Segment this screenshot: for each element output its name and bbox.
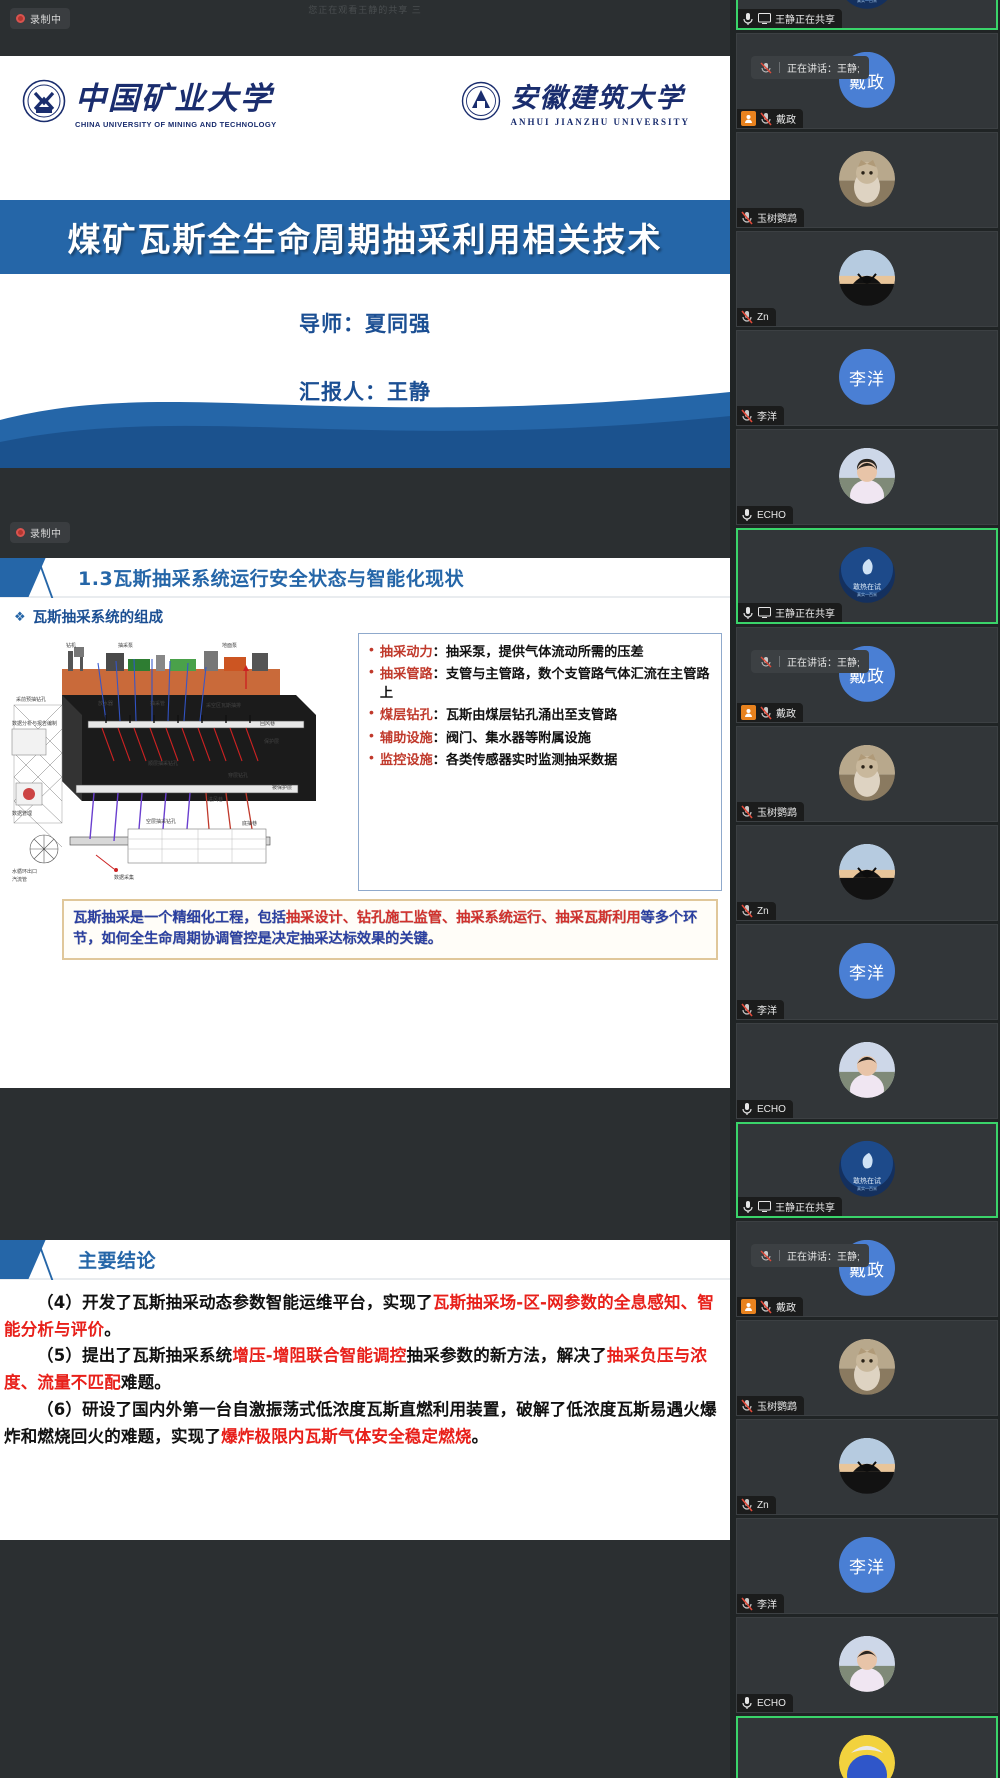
bullet-key: 监控设施 (380, 752, 433, 767)
avatar (839, 1042, 895, 1098)
participant-tile[interactable]: 李洋 李洋 (736, 924, 998, 1020)
avatar-person-image (839, 1636, 895, 1692)
avatar-night-image: 敢热在试 真实一百米 (839, 1141, 895, 1197)
avatar: 李洋 (839, 943, 895, 999)
microphone-muted-icon (741, 904, 753, 918)
participant-tile[interactable]: ECHO (736, 1023, 998, 1119)
svg-text:真实一百米: 真实一百米 (857, 1185, 877, 1191)
slide-main-conclusions: 主要结论 （4）开发了瓦斯抽采动态参数智能运维平台，实现了瓦斯抽采场-区-网参数… (0, 1240, 730, 1540)
screen-share-icon (758, 607, 771, 618)
participant-tile[interactable]: 正在讲话：王静; 戴政 戴政 (736, 1221, 998, 1317)
avatar-dusk-image (839, 250, 895, 306)
avatar-dusk-image (839, 1438, 895, 1494)
slide2-bullet-box: • 抽采动力：抽采泵，提供气体流动所需的压差 • 抽采管路：支管与主管路，数个支… (358, 633, 722, 891)
microphone-on-icon (741, 508, 753, 522)
avatar (839, 250, 895, 306)
microphone-on-icon (742, 12, 754, 26)
svg-text:水循环出口: 水循环出口 (12, 868, 37, 875)
avatar (839, 1339, 895, 1395)
microphone-muted-icon (760, 1300, 772, 1314)
participant-name: 李洋 (757, 1002, 777, 1017)
participant-tile[interactable]: Zn (736, 231, 998, 327)
svg-text:穿层钻孔: 穿层钻孔 (228, 772, 248, 779)
speaking-toast: 正在讲话：王静; (751, 1244, 869, 1267)
speaking-toast-text: 正在讲话：王静; (787, 654, 860, 669)
microphone-muted-icon (760, 1250, 772, 1262)
avatar (839, 844, 895, 900)
participant-name: 王静正在共享 (775, 1199, 835, 1214)
bullet-dot-icon: • (369, 664, 374, 702)
bullet-text: ：阀门、集水器等附属设施 (433, 730, 591, 745)
svg-text:数据分析与报告编制: 数据分析与报告编制 (12, 720, 57, 727)
microphone-muted-icon (741, 1399, 753, 1413)
record-dot-icon (16, 528, 25, 537)
participant-name: ECHO (757, 510, 786, 521)
avatar-person-image (839, 448, 895, 504)
microphone-on-icon (741, 1102, 753, 1116)
slide3-section-title: 主要结论 (78, 1246, 156, 1273)
slide2-subheading-row: ❖ 瓦斯抽采系统的组成 (0, 598, 730, 631)
bullet-key: 抽采动力 (380, 644, 433, 659)
avatar (839, 1438, 895, 1494)
participant-tile[interactable]: Zn (736, 825, 998, 921)
participant-name: ECHO (757, 1698, 786, 1709)
slide-logo-row: 中国矿业大学 CHINA UNIVERSITY OF MINING AND TE… (0, 56, 730, 146)
sidebar-scroll-content: 敢热在试 真实一百米 王静正在共享 (734, 0, 996, 1778)
microphone-muted-icon (741, 805, 753, 819)
participant-badge: 玉树鹦鹉 (737, 1396, 804, 1415)
microphone-muted-icon (741, 1597, 753, 1611)
slide-title: 中国矿业大学 CHINA UNIVERSITY OF MINING AND TE… (0, 56, 730, 468)
microphone-muted-icon (760, 62, 772, 74)
avatar-yellow-image (839, 1735, 895, 1778)
list-item: • 监控设施：各类传感器实时监测抽采数据 (369, 750, 713, 769)
cumt-name-en: CHINA UNIVERSITY OF MINING AND TECHNOLOG… (75, 120, 277, 129)
participant-name: 玉树鹦鹉 (757, 1398, 797, 1413)
participant-tile[interactable]: 李洋 李洋 (736, 1518, 998, 1614)
avatar: 敢热在试 真实一百米 (839, 547, 895, 603)
participant-name: Zn (757, 906, 769, 917)
conclusion-paragraph-6: （6）研设了国内外第一台自激振荡式低浓度瓦斯直燃利用装置，破解了低浓度瓦斯易遇火… (4, 1397, 724, 1450)
participant-name: 戴政 (776, 705, 796, 720)
slide1-body: 导师：夏同强 汇报人：王静 (0, 274, 730, 468)
svg-text:采空区瓦斯抽排: 采空区瓦斯抽排 (206, 702, 241, 709)
conclusion-paragraph-5: （5）提出了瓦斯抽采系统增压-增阻联合智能调控抽采参数的新方法，解决了抽采负压与… (4, 1343, 724, 1396)
avatar-person-image (839, 1042, 895, 1098)
shared-screen-stage: 您正在观看王静的共享 三 录制中 中国矿业大学 CHINA UNIV (0, 0, 730, 1778)
bullet-key: 辅助设施 (380, 730, 433, 745)
note-part-1: 瓦斯抽采是一个精细化工程，包括 (73, 910, 286, 926)
share-hint-text: 您正在观看王静的共享 三 (0, 3, 730, 16)
avatar (839, 448, 895, 504)
slide3-header: 主要结论 (0, 1240, 730, 1280)
logo-cumt: 中国矿业大学 CHINA UNIVERSITY OF MINING AND TE… (22, 73, 277, 129)
list-item: • 抽采动力：抽采泵，提供气体流动所需的压差 (369, 642, 713, 661)
avatar-initials: 李洋 (839, 349, 895, 405)
participant-badge: 戴政 (737, 109, 803, 128)
avatar (839, 151, 895, 207)
bullet-dot-icon: • (369, 642, 374, 661)
participant-tile[interactable]: 敢热在试 真实一百米 王静正在共享 (736, 1122, 998, 1218)
avatar: 敢热在试 真实一百米 (839, 0, 895, 9)
host-icon (741, 705, 756, 720)
recording-label: 录制中 (30, 11, 62, 26)
speaking-toast-text: 正在讲话：王静; (787, 60, 860, 75)
participant-tile[interactable]: 敢热在试 真实一百米 王静正在共享 (736, 528, 998, 624)
microphone-muted-icon (760, 112, 772, 126)
avatar (839, 1636, 895, 1692)
bullet-text: ：抽采泵，提供气体流动所需的压差 (433, 644, 644, 659)
bullet-dot-icon: • (369, 728, 374, 747)
participant-badge: 玉树鹦鹉 (737, 208, 804, 227)
participant-name: ECHO (757, 1104, 786, 1115)
slide1-wave-decoration (0, 358, 730, 468)
svg-text:顺层抽采钻孔: 顺层抽采钻孔 (148, 760, 178, 767)
conclusion-5-c: 难题。 (121, 1373, 171, 1392)
microphone-muted-icon (741, 1498, 753, 1512)
list-item: • 煤层钻孔：瓦斯由煤层钻孔涌出至支管路 (369, 705, 713, 724)
conclusion-6-highlight: 爆炸极限内瓦斯气体安全稳定燃烧 (221, 1427, 472, 1446)
participant-name: 李洋 (757, 1596, 777, 1611)
participant-badge: 王静正在共享 (738, 9, 842, 28)
speaking-toast: 正在讲话：王静; (751, 56, 869, 79)
microphone-muted-icon (741, 409, 753, 423)
avatar-cat-image (839, 151, 895, 207)
svg-text:放水器: 放水器 (98, 700, 113, 707)
svg-text:采前预抽钻孔: 采前预抽钻孔 (16, 696, 46, 703)
slide1-spacer (0, 146, 730, 200)
screen-share-icon (758, 13, 771, 24)
participant-badge: ECHO (737, 506, 793, 524)
microphone-muted-icon (741, 211, 753, 225)
svg-text:真实一百米: 真实一百米 (857, 0, 877, 3)
participant-name: Zn (757, 312, 769, 323)
cumt-crest-icon (22, 79, 66, 123)
bullet-key: 抽采管路 (380, 666, 433, 681)
avatar: 李洋 (839, 349, 895, 405)
participant-tile[interactable]: ECHO (736, 429, 998, 525)
participant-sidebar[interactable]: 敢热在试 真实一百米 王静正在共享 (730, 0, 1000, 1778)
svg-text:汽流管: 汽流管 (12, 876, 27, 883)
participant-badge: Zn (737, 902, 776, 920)
svg-text:进风巷: 进风巷 (208, 796, 223, 803)
conclusion-5-highlight-1: 增压-增阻联合智能调控 (232, 1346, 406, 1365)
screen-share-icon (758, 1201, 771, 1212)
avatar-initials: 李洋 (839, 1537, 895, 1593)
participant-tile[interactable]: 玉树鹦鹉 (736, 132, 998, 228)
speaking-toast-text: 正在讲话：王静; (787, 1248, 860, 1263)
microphone-muted-icon (760, 706, 772, 720)
participant-tile[interactable] (736, 1716, 998, 1778)
logo-ahjzu: 安徽建筑大学 ANHUI JIANZHU UNIVERSITY (461, 76, 690, 127)
participant-tile[interactable]: ECHO (736, 1617, 998, 1713)
ahjzu-crest-icon (461, 81, 501, 121)
slide1-adviser: 导师：夏同强 (0, 308, 730, 338)
record-dot-icon (16, 14, 25, 23)
host-icon (741, 1299, 756, 1314)
recording-label: 录制中 (30, 525, 62, 540)
slide1-title-bar: 煤矿瓦斯全生命周期抽采利用相关技术 (0, 200, 730, 274)
recording-indicator-top: 录制中 (10, 8, 70, 29)
participant-badge: 李洋 (737, 406, 784, 425)
svg-text:数据管理: 数据管理 (12, 810, 32, 817)
participant-name: 王静正在共享 (775, 11, 835, 26)
toast-divider (779, 1250, 780, 1261)
conclusion-4-b: 。 (104, 1320, 121, 1339)
avatar-night-image: 敢热在试 真实一百米 (839, 547, 895, 603)
participant-tile[interactable]: 玉树鹦鹉 (736, 1320, 998, 1416)
avatar: 李洋 (839, 1537, 895, 1593)
avatar-dusk-image (839, 844, 895, 900)
conclusion-5-a: （5）提出了瓦斯抽采系统 (37, 1346, 232, 1365)
microphone-muted-icon (760, 656, 772, 668)
participant-tile[interactable]: 玉树鹦鹉 (736, 726, 998, 822)
slide3-body: （4）开发了瓦斯抽采动态参数智能运维平台，实现了瓦斯抽采场-区-网参数的全息感知… (0, 1280, 730, 1450)
participant-name: 玉树鹦鹉 (757, 804, 797, 819)
svg-text:地面泵: 地面泵 (222, 642, 237, 649)
diamond-bullet-icon: ❖ (14, 609, 26, 625)
participant-tile[interactable]: Zn (736, 1419, 998, 1515)
meeting-window: 您正在观看王静的共享 三 录制中 中国矿业大学 CHINA UNIV (0, 0, 1000, 1778)
svg-text:抽采泵: 抽采泵 (118, 642, 133, 649)
participant-badge: 王静正在共享 (738, 603, 842, 622)
microphone-muted-icon (741, 310, 753, 324)
participant-badge: Zn (737, 308, 776, 326)
participant-name: 李洋 (757, 408, 777, 423)
avatar-cat-image (839, 745, 895, 801)
participant-tile[interactable]: 敢热在试 真实一百米 王静正在共享 (736, 0, 998, 30)
participant-name: 戴政 (776, 1299, 796, 1314)
participant-badge: 戴政 (737, 703, 803, 722)
speaking-toast: 正在讲话：王静; (751, 650, 869, 673)
participant-badge: Zn (737, 1496, 776, 1514)
conclusion-5-b: 抽采参数的新方法，解决了 (406, 1346, 606, 1365)
slide2-section-title: 1.3瓦斯抽采系统运行安全状态与智能化现状 (78, 564, 464, 591)
participant-badge: ECHO (737, 1100, 793, 1118)
svg-text:底抽巷: 底抽巷 (242, 820, 257, 827)
toast-divider (779, 62, 780, 73)
avatar-initials: 李洋 (839, 943, 895, 999)
microphone-on-icon (742, 1200, 754, 1214)
participant-badge: 李洋 (737, 1000, 784, 1019)
svg-text:保护层: 保护层 (264, 738, 279, 745)
avatar-cat-image (839, 1339, 895, 1395)
svg-text:敢热在试: 敢热在试 (853, 1176, 881, 1185)
slide-gas-extraction-system: 1.3瓦斯抽采系统运行安全状态与智能化现状 ❖ 瓦斯抽采系统的组成 (0, 558, 730, 1088)
svg-text:被保护层: 被保护层 (272, 784, 292, 791)
avatar (839, 1735, 895, 1778)
microphone-on-icon (742, 606, 754, 620)
participant-tile[interactable]: 正在讲话：王静; 戴政 戴政 (736, 33, 998, 129)
toast-divider (779, 656, 780, 667)
bullet-text: ：瓦斯由煤层钻孔涌出至支管路 (433, 707, 618, 722)
cumt-name-cn: 中国矿业大学 (75, 73, 277, 118)
ahjzu-name-cn: 安徽建筑大学 (510, 76, 690, 115)
bullet-dot-icon: • (369, 750, 374, 769)
avatar: 敢热在试 真实一百米 (839, 1141, 895, 1197)
participant-badge: 玉树鹦鹉 (737, 802, 804, 821)
conclusion-4-a: （4）开发了瓦斯抽采动态参数智能运维平台，实现了 (37, 1293, 433, 1312)
bullet-text: ：各类传感器实时监测抽采数据 (433, 752, 618, 767)
avatar-night-image: 敢热在试 真实一百米 (839, 0, 895, 9)
participant-badge: 王静正在共享 (738, 1197, 842, 1216)
participant-name: 玉树鹦鹉 (757, 210, 797, 225)
conclusion-6-b: 。 (472, 1427, 489, 1446)
microphone-muted-icon (741, 1003, 753, 1017)
slide1-title: 煤矿瓦斯全生命周期抽采利用相关技术 (68, 213, 663, 261)
slide2-columns: 钻机 抽采泵 地面泵 采前预抽钻孔 放水器 抽采管 采空区瓦斯抽排 回风巷 保护… (0, 631, 730, 891)
conclusion-paragraph-4: （4）开发了瓦斯抽采动态参数智能运维平台，实现了瓦斯抽采场-区-网参数的全息感知… (4, 1290, 724, 1343)
participant-name: Zn (757, 1500, 769, 1511)
bullet-dot-icon: • (369, 705, 374, 724)
bullet-key: 煤层钻孔 (380, 707, 433, 722)
note-highlight: 抽采设计、钻孔施工监管、抽采系统运行、抽采瓦斯利用 (286, 910, 641, 926)
svg-text:敢热在试: 敢热在试 (853, 582, 881, 591)
svg-text:回风巷: 回风巷 (260, 721, 275, 727)
list-item: • 辅助设施：阀门、集水器等附属设施 (369, 728, 713, 747)
list-item: • 抽采管路：支管与主管路，数个支管路气体汇流在主管路上 (369, 664, 713, 702)
participant-name: 戴政 (776, 111, 796, 126)
avatar (839, 745, 895, 801)
participant-tile[interactable]: 李洋 李洋 (736, 330, 998, 426)
slide2-summary-note: 瓦斯抽采是一个精细化工程，包括抽采设计、钻孔施工监管、抽采系统运行、抽采瓦斯利用… (62, 899, 718, 960)
svg-text:空层抽采钻孔: 空层抽采钻孔 (146, 818, 176, 825)
participant-badge: 戴政 (737, 1297, 803, 1316)
participant-name: 王静正在共享 (775, 605, 835, 620)
ahjzu-name-en: ANHUI JIANZHU UNIVERSITY (510, 117, 690, 127)
svg-text:抽采管: 抽采管 (150, 700, 165, 707)
svg-text:真实一百米: 真实一百米 (857, 591, 877, 597)
participant-badge: 李洋 (737, 1594, 784, 1613)
svg-text:数据采集: 数据采集 (114, 874, 134, 881)
slide2-header: 1.3瓦斯抽采系统运行安全状态与智能化现状 (0, 558, 730, 598)
participant-tile[interactable]: 正在讲话：王静; 戴政 戴政 (736, 627, 998, 723)
microphone-on-icon (741, 1696, 753, 1710)
svg-text:钻机: 钻机 (66, 642, 76, 649)
recording-indicator-middle: 录制中 (10, 522, 70, 543)
participant-badge: ECHO (737, 1694, 793, 1712)
mine-schematic-figure: 钻机 抽采泵 地面泵 采前预抽钻孔 放水器 抽采管 采空区瓦斯抽排 回风巷 保护… (10, 633, 350, 883)
slide2-subheading: 瓦斯抽采系统的组成 (33, 606, 164, 627)
host-icon (741, 111, 756, 126)
mine-schematic-svg: 钻机 抽采泵 地面泵 采前预抽钻孔 放水器 抽采管 采空区瓦斯抽排 回风巷 保护… (10, 633, 350, 883)
